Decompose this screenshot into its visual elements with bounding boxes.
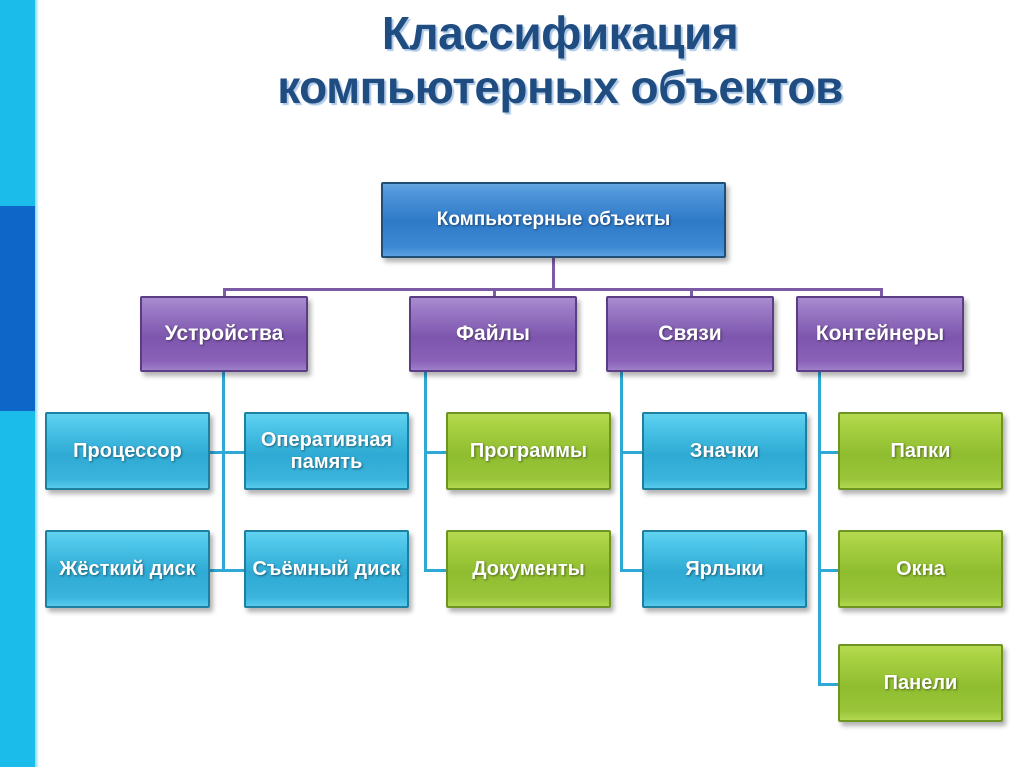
node-leaf-documents-label: Документы [472,558,584,580]
node-category-devices[interactable]: Устройства [140,296,308,372]
connector-drop-links [690,288,693,296]
node-leaf-ram-label: Оперативная память [252,429,401,474]
sidebar-strip-bottom [0,411,35,767]
node-leaf-panels-label: Панели [884,672,958,694]
connector-devices-spine [222,372,225,572]
node-leaf-ram[interactable]: Оперативная память [244,412,409,490]
node-leaf-windows-label: Окна [896,558,945,580]
connector-drop-containers [880,288,883,296]
node-leaf-processor[interactable]: Процессор [45,412,210,490]
connector-containers-to-panels [818,683,840,686]
connector-containers-spine [818,372,821,685]
node-leaf-panels[interactable]: Панели [838,644,1003,722]
connector-drop-devices [223,288,226,296]
page-title-line-1: Классификация [382,7,738,59]
sidebar-strip-glow [35,0,39,767]
connector-links-to-shortcuts [620,569,642,572]
connector-containers-to-windows [818,569,840,572]
connector-devices-to-ram [222,451,244,454]
node-leaf-removable-label: Съёмный диск [252,558,400,580]
sidebar-strip-top [0,0,35,206]
node-category-files-label: Файлы [456,322,530,346]
connector-drop-files [493,288,496,296]
sidebar-strip-accent [0,206,35,411]
slide-canvas: Классификация компьютерных объектов Комп… [0,0,1024,767]
node-root[interactable]: Компьютерные объекты [381,182,726,258]
node-leaf-processor-label: Процессор [73,440,182,462]
node-leaf-folders-label: Папки [891,440,951,462]
node-category-files[interactable]: Файлы [409,296,577,372]
node-leaf-programs-label: Программы [470,440,587,462]
page-title-line-2: компьютерных объектов [120,60,1000,114]
connector-files-to-documents [424,569,446,572]
connector-containers-to-folders [818,451,840,454]
node-category-devices-label: Устройства [165,322,284,346]
node-leaf-icons[interactable]: Значки [642,412,807,490]
connector-links-to-icons [620,451,642,454]
node-category-containers-label: Контейнеры [816,322,944,346]
connector-files-to-programs [424,451,446,454]
node-leaf-hdd-label: Жёсткий диск [59,558,195,580]
node-leaf-windows[interactable]: Окна [838,530,1003,608]
node-leaf-hdd[interactable]: Жёсткий диск [45,530,210,608]
node-category-containers[interactable]: Контейнеры [796,296,964,372]
node-leaf-folders[interactable]: Папки [838,412,1003,490]
connector-devices-to-removable [222,569,244,572]
node-leaf-icons-label: Значки [690,440,759,462]
node-category-links[interactable]: Связи [606,296,774,372]
node-leaf-documents[interactable]: Документы [446,530,611,608]
connector-files-spine [424,372,427,572]
node-leaf-shortcuts[interactable]: Ярлыки [642,530,807,608]
connector-root-bus [223,288,883,291]
node-leaf-programs[interactable]: Программы [446,412,611,490]
connector-root-stem [552,258,555,290]
connector-links-spine [620,372,623,572]
page-title: Классификация компьютерных объектов [120,6,1000,115]
node-leaf-shortcuts-label: Ярлыки [685,558,763,580]
node-category-links-label: Связи [658,322,721,346]
node-leaf-removable[interactable]: Съёмный диск [244,530,409,608]
node-root-label: Компьютерные объекты [437,209,671,230]
